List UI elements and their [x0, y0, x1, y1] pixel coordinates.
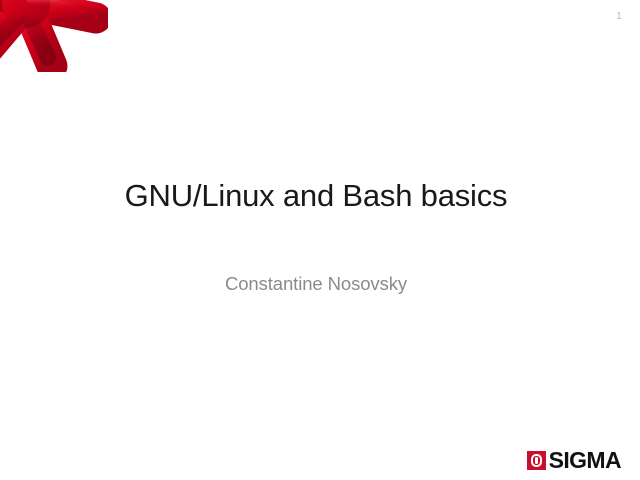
- slide-number: 1: [616, 11, 622, 23]
- sigma-logo: SIGMA: [527, 449, 621, 471]
- badge-dot-shape: [535, 457, 538, 464]
- sigma-wordmark: SIGMA: [549, 449, 621, 472]
- title-block: GNU/Linux and Bash basics: [0, 176, 640, 216]
- sigma-badge-glyph-icon: [527, 451, 546, 470]
- page-title: GNU/Linux and Bash basics: [0, 176, 640, 216]
- red-star-decoration: [0, 0, 108, 72]
- subtitle-block: Constantine Nosovsky: [0, 272, 640, 296]
- author-subtitle: Constantine Nosovsky: [0, 272, 640, 296]
- title-slide: 1 GNU/Linux and Bash basics Constantine …: [0, 0, 640, 480]
